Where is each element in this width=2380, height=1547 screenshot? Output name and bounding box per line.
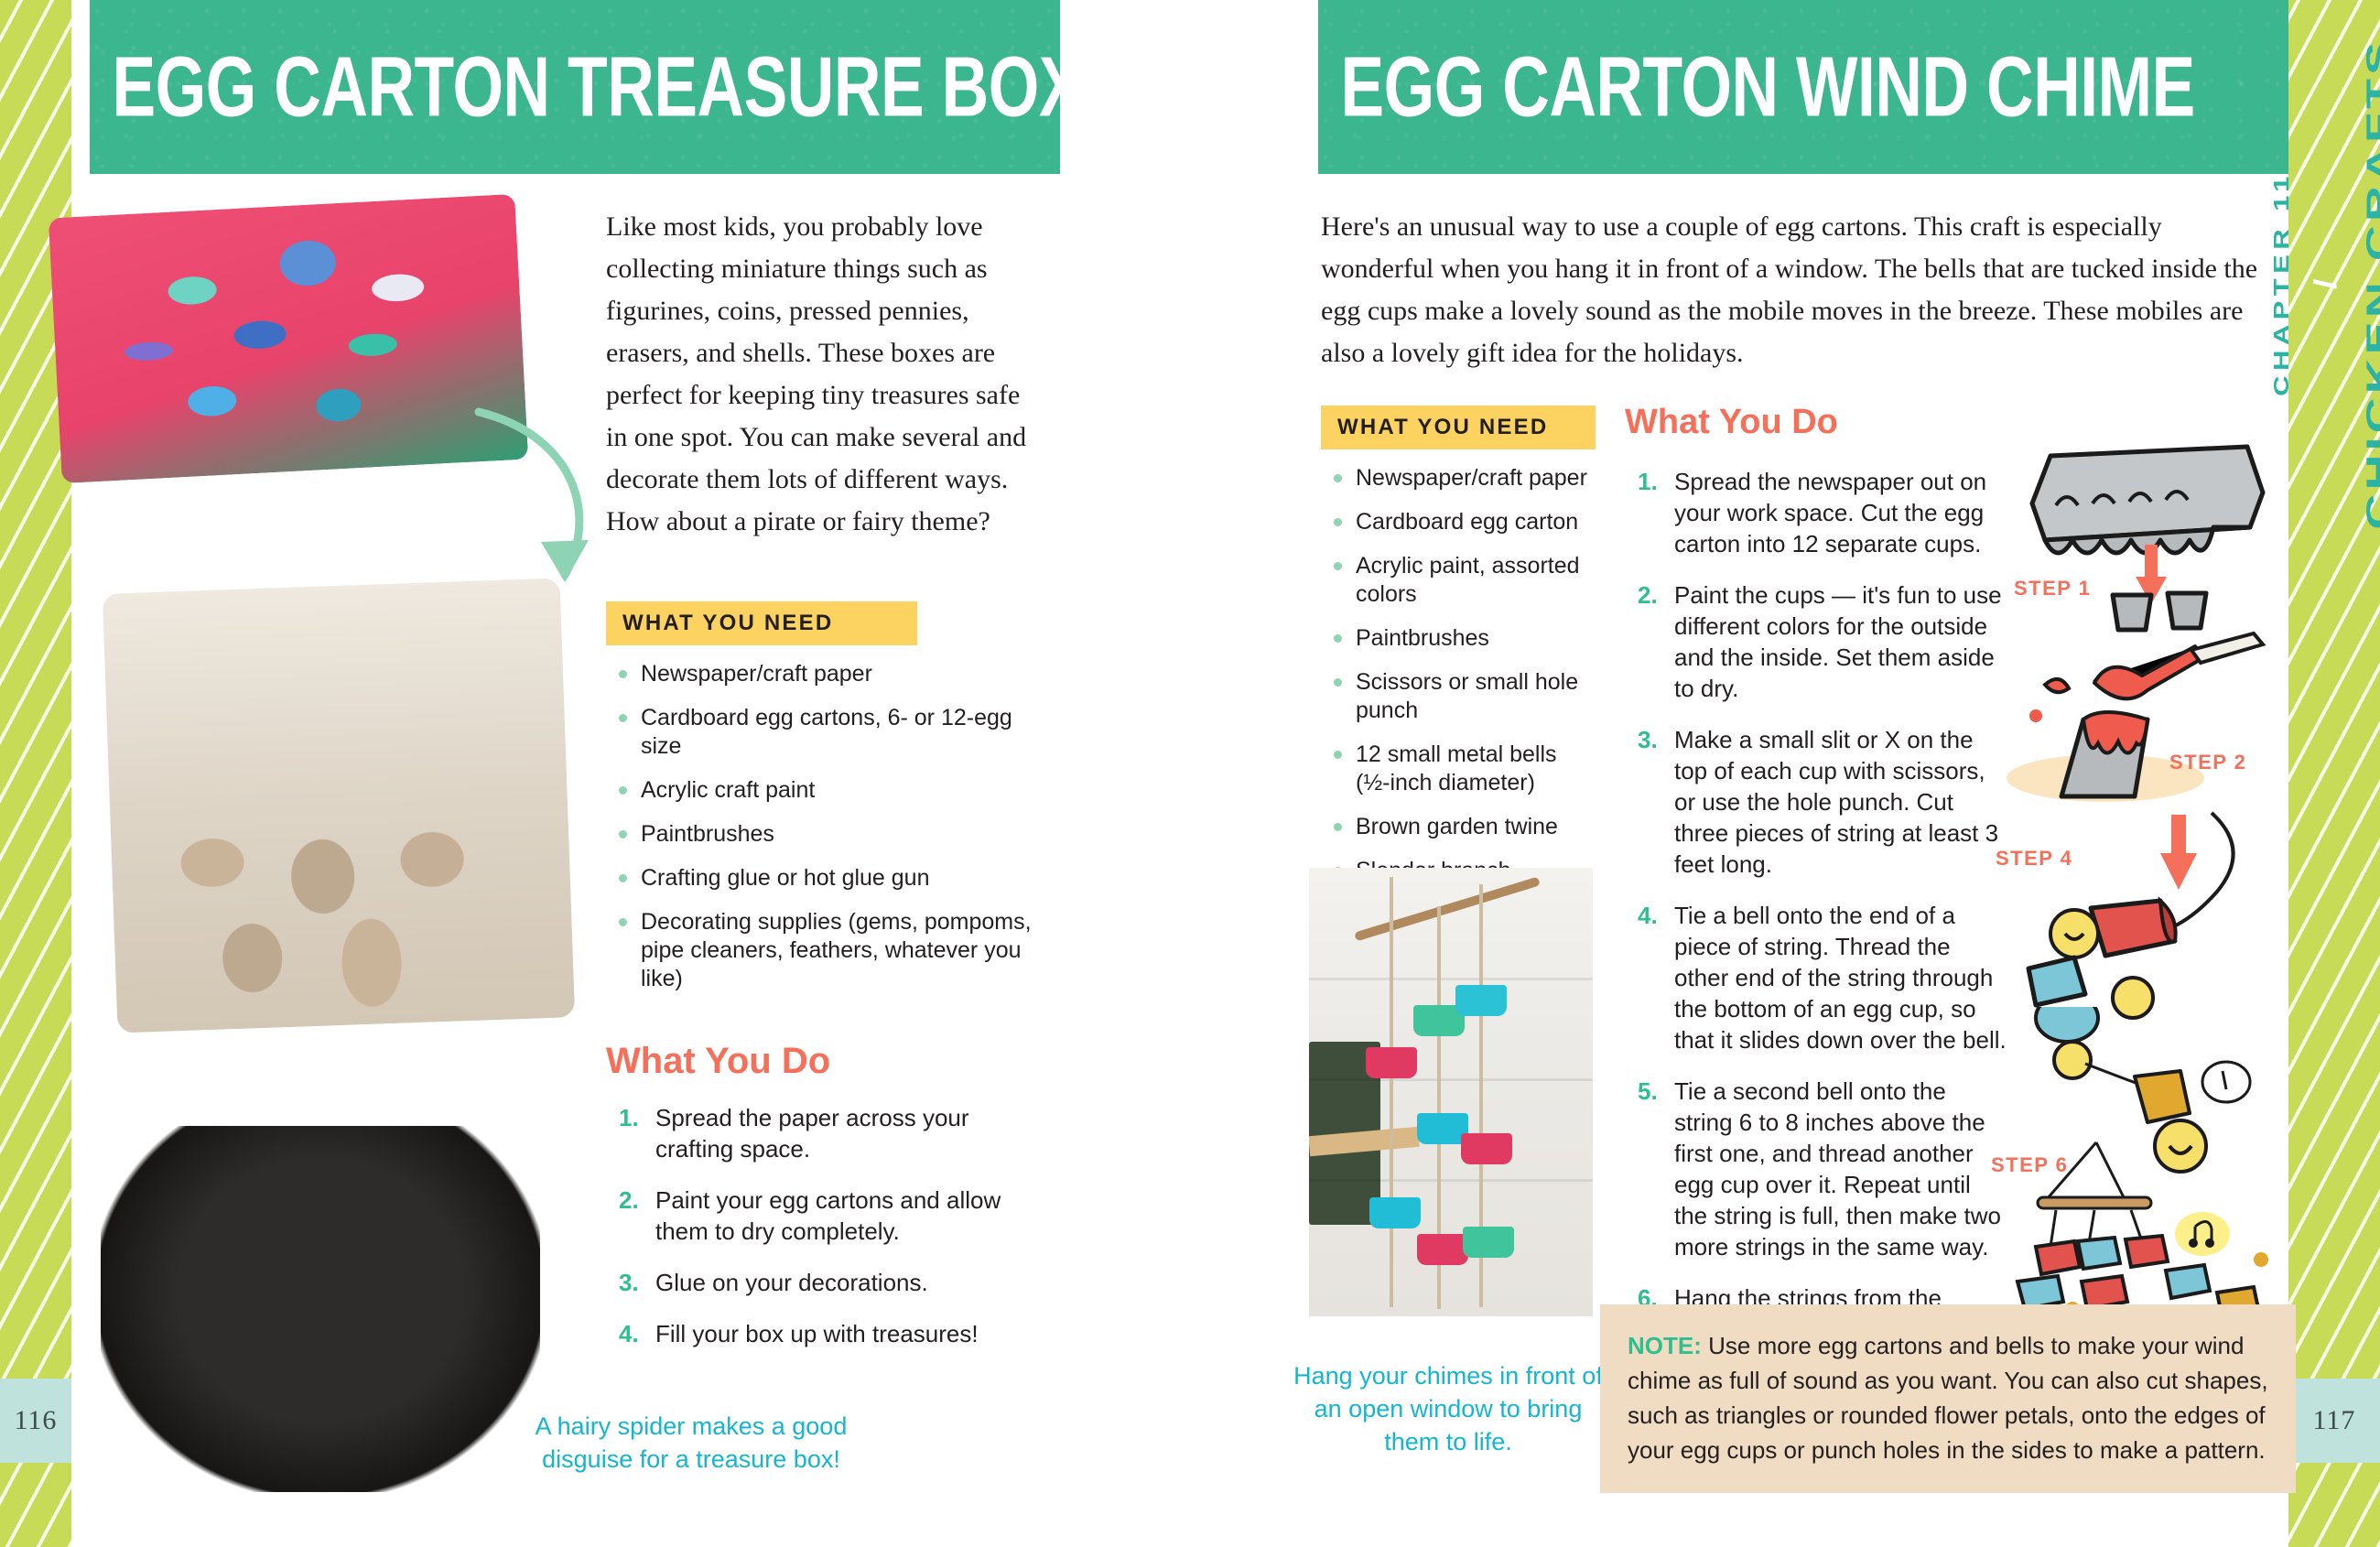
- list-item: Decorating supplies (gems, pompoms, pipe…: [606, 908, 1036, 993]
- left-page-title: EGG CARTON TREASURE BOXES: [90, 38, 1168, 135]
- note-text: Use more egg cartons and bells to make y…: [1628, 1332, 2268, 1464]
- step-number: 4.: [619, 1318, 639, 1349]
- step-number: 1.: [619, 1102, 639, 1133]
- list-item: 12 small metal bells (½-inch diameter): [1321, 741, 1596, 797]
- step-number: 3.: [1638, 724, 1658, 755]
- list-item: 4. Fill your box up with treasures!: [606, 1318, 1036, 1349]
- photo-wind-chime: [1309, 868, 1593, 1316]
- list-item: 3. Glue on your decorations.: [606, 1267, 1036, 1298]
- photo-hairy-spider: [101, 1126, 540, 1492]
- list-item: 3. Make a small slit or X on the top of …: [1625, 724, 2009, 880]
- list-item: Cardboard egg cartons, 6- or 12-egg size: [606, 704, 1036, 761]
- left-what-you-need-header: WHAT YOU NEED: [606, 601, 917, 645]
- left-what-you-need-list: Newspaper/craft paper Cardboard egg cart…: [606, 660, 1036, 993]
- step-text: Tie a second bell onto the string 6 to 8…: [1674, 1077, 2001, 1260]
- right-title-band: EGG CARTON WIND CHIME: [1318, 0, 2288, 174]
- page-number-left: 116: [0, 1379, 71, 1463]
- step-4-label: STEP 4: [1996, 847, 2072, 871]
- step-text: Paint your egg cartons and allow them to…: [655, 1186, 1001, 1245]
- step-text: Paint the cups — it's fun to use differe…: [1674, 581, 2002, 702]
- left-title-band: EGG CARTON TREASURE BOXES: [90, 0, 1060, 174]
- step-number: 1.: [1638, 466, 1658, 497]
- list-item: 2. Paint the cups — it's fun to use diff…: [1625, 579, 2009, 704]
- list-item: 1. Spread the newspaper out on your work…: [1625, 466, 2009, 559]
- right-edge-pattern: [2288, 0, 2380, 1547]
- step-number: 4.: [1638, 900, 1658, 931]
- list-item: 1. Spread the paper across your crafting…: [606, 1102, 1036, 1164]
- step-text: Fill your box up with treasures!: [655, 1320, 979, 1347]
- chime-strings: [1309, 868, 1593, 1316]
- page-number-right: 117: [2288, 1379, 2380, 1463]
- step-text: Glue on your decorations.: [655, 1269, 928, 1296]
- left-steps-list: 1. Spread the paper across your crafting…: [606, 1102, 1036, 1349]
- step-number: 2.: [1638, 579, 1658, 611]
- note-label: NOTE:: [1628, 1332, 1702, 1359]
- step-2-label: STEP 2: [2169, 751, 2246, 774]
- photo-gem-treasure-box: [49, 194, 528, 483]
- book-spread: 116 117 CHICKEN CRAFTS / CHAPTER 11 EGG …: [0, 0, 2380, 1547]
- step-text: Make a small slit or X on the top of eac…: [1674, 726, 1998, 878]
- step-illustrations: STEP 1 STEP 2 STEP 4: [1996, 439, 2298, 1336]
- step-text: Spread the paper across your crafting sp…: [655, 1104, 969, 1163]
- right-what-you-do-header: What You Do: [1625, 403, 2009, 442]
- step-6-label: STEP 6: [1991, 1153, 2068, 1177]
- list-item: Brown garden twine: [1321, 813, 1596, 841]
- list-item: Newspaper/craft paper: [606, 660, 1036, 688]
- list-item: 5. Tie a second bell onto the string 6 t…: [1625, 1076, 2009, 1262]
- list-item: 4. Tie a bell onto the end of a piece of…: [1625, 900, 2009, 1055]
- photo-open-egg-carton: [103, 578, 575, 1033]
- left-photo-caption: A hairy spider makes a good disguise for…: [522, 1410, 860, 1476]
- step-number: 5.: [1638, 1076, 1658, 1107]
- step-text: Spread the newspaper out on your work sp…: [1674, 468, 1986, 557]
- list-item: Acrylic craft paint: [606, 776, 1036, 805]
- step2-painting-illustration: [1996, 632, 2279, 833]
- step-number: 3.: [619, 1267, 639, 1298]
- curved-arrow-icon: [462, 403, 627, 613]
- list-item: Newspaper/craft paper: [1321, 464, 1596, 492]
- step-text: Tie a bell onto the end of a piece of st…: [1674, 902, 2007, 1054]
- list-item: Paintbrushes: [606, 820, 1036, 849]
- step-number: 2.: [619, 1185, 639, 1216]
- left-what-you-do-header: What You Do: [606, 1041, 1036, 1082]
- right-photo-caption: Hang your chimes in front of an open win…: [1293, 1359, 1604, 1458]
- right-page-title: EGG CARTON WIND CHIME: [1318, 38, 2195, 135]
- right-what-you-need-header: WHAT YOU NEED: [1321, 406, 1596, 449]
- list-item: 2. Paint your egg cartons and allow them…: [606, 1185, 1036, 1247]
- right-steps-list: 1. Spread the newspaper out on your work…: [1625, 466, 2009, 1438]
- step1-carton-illustration: [2014, 439, 2279, 641]
- list-item: Crafting glue or hot glue gun: [606, 864, 1036, 892]
- note-box: NOTE: Use more egg cartons and bells to …: [1600, 1304, 2296, 1493]
- step-1-label: STEP 1: [2014, 577, 2091, 600]
- right-intro-text: Here's an unusual way to use a couple of…: [1321, 206, 2273, 374]
- list-item: Cardboard egg carton: [1321, 508, 1596, 536]
- list-item: Acrylic paint, assorted colors: [1321, 552, 1596, 609]
- list-item: Paintbrushes: [1321, 624, 1596, 653]
- left-intro-text: Like most kids, you probably love collec…: [606, 206, 1036, 543]
- list-item: Scissors or small hole punch: [1321, 668, 1596, 725]
